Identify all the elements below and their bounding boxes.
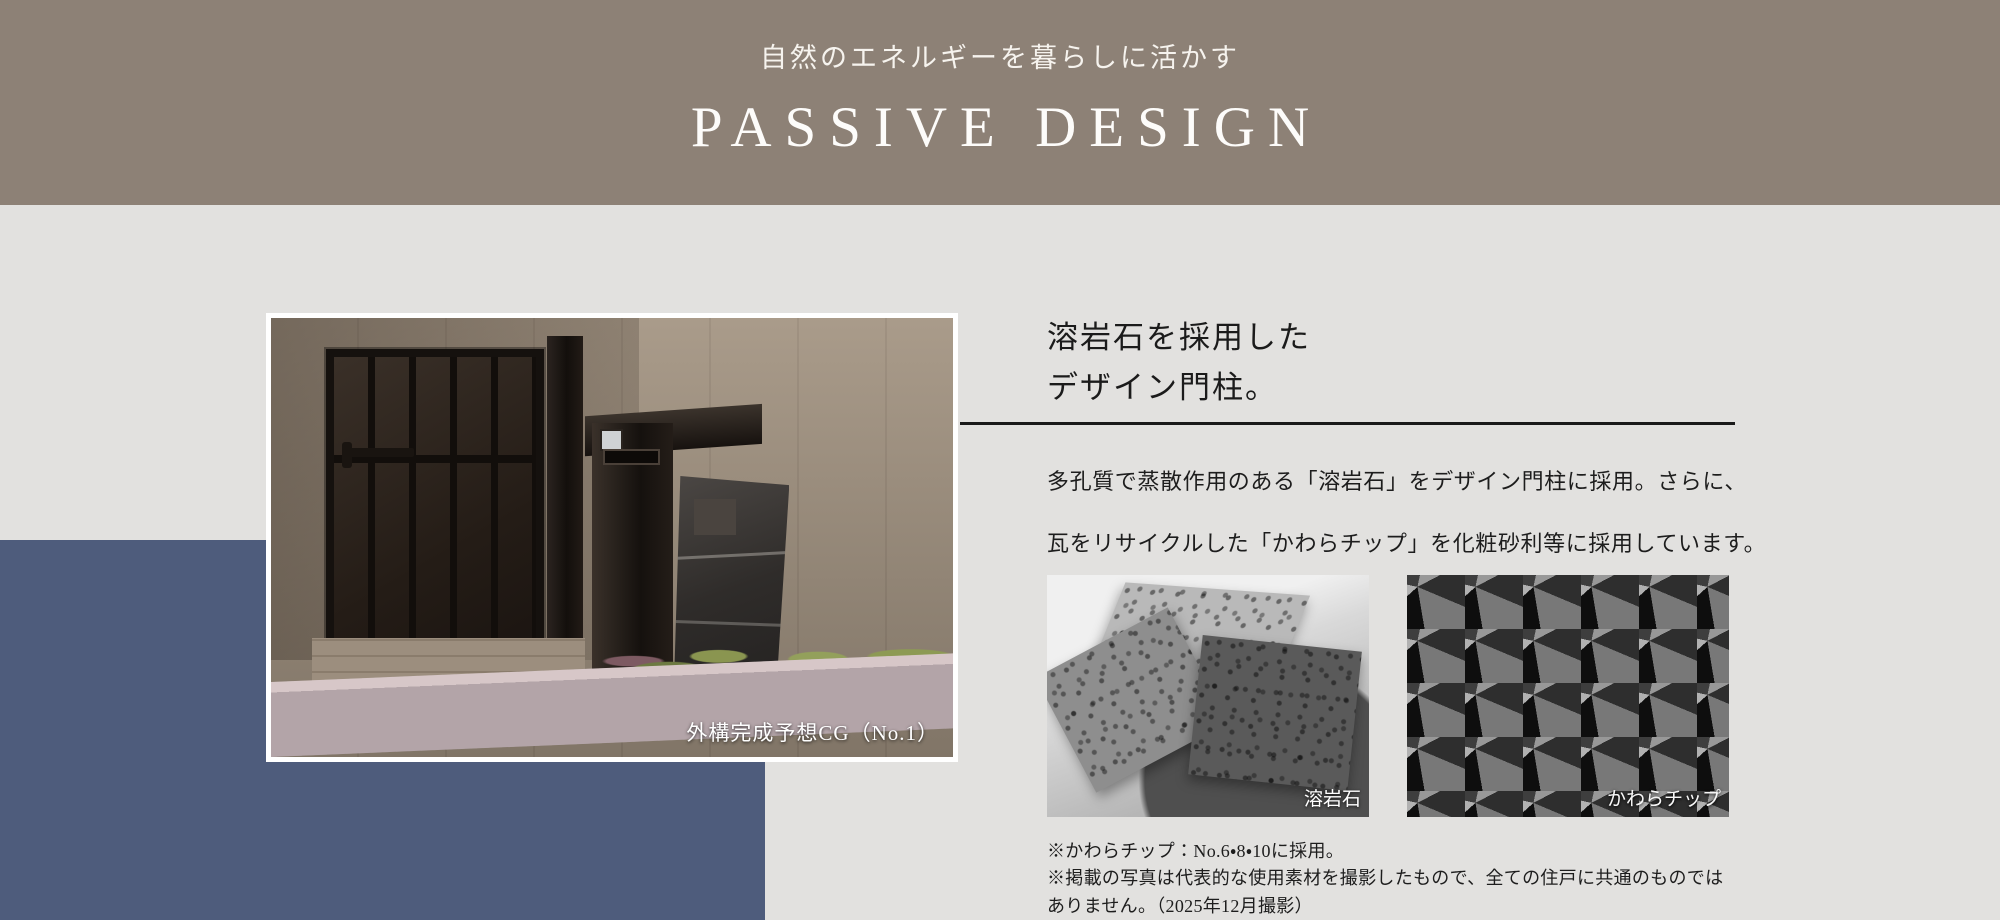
footnote-line-3: ありません。（2025年12月撮影） <box>1047 893 1723 920</box>
material-caption-kawara-chip: かわらチップ <box>1607 784 1721 811</box>
nameplate <box>694 499 736 536</box>
content-heading-line1: 溶岩石を採用した <box>1047 313 1747 363</box>
section-subtitle: 自然のエネルギーを暮らしに活かす <box>760 36 1240 75</box>
section-header-band: 自然のエネルギーを暮らしに活かす PASSIVE DESIGN <box>0 0 2000 205</box>
content-body-line1: 多孔質で蒸散作用のある「溶岩石」をデザイン門柱に採用。さらに、 <box>1047 460 1767 504</box>
gate-handle-grip <box>342 442 352 468</box>
main-photo-caption: 外構完成予想CG（No.1） <box>686 717 939 747</box>
footnotes: ※かわらチップ：No.6・8・10に採用。 ※掲載の写真は代表的な使用素材を撮影… <box>1047 838 1723 920</box>
material-photo-lava-stone: 溶岩石 <box>1047 575 1369 817</box>
heading-divider <box>960 422 1735 425</box>
stone-joint-1 <box>673 551 789 560</box>
content-heading-line2: デザイン門柱。 <box>1047 363 1747 413</box>
entrance-gate-cg-image: 外構完成予想CG（No.1） <box>271 318 953 757</box>
section-title: PASSIVE DESIGN <box>678 95 1322 160</box>
gate-bars <box>334 357 536 683</box>
material-photo-row: 溶岩石 かわらチップ <box>1047 575 1729 817</box>
content-heading-block: 溶岩石を採用した デザイン門柱。 <box>1047 313 1747 413</box>
main-photo-frame: 外構完成予想CG（No.1） <box>266 313 958 762</box>
footnote-line-1: ※かわらチップ：No.6・8・10に採用。 <box>1047 838 1723 865</box>
footnote-line-2: ※掲載の写真は代表的な使用素材を撮影したもので、全ての住戸に共通のものでは <box>1047 865 1723 892</box>
gate-handle <box>346 448 415 457</box>
content-body: 多孔質で蒸散作用のある「溶岩石」をデザイン門柱に採用。さらに、 瓦をリサイクルし… <box>1047 460 1767 584</box>
mail-slot <box>603 449 660 466</box>
lava-slab-dark <box>1188 635 1362 791</box>
page-root: 自然のエネルギーを暮らしに活かす PASSIVE DESIGN <box>0 0 2000 920</box>
content-body-line2: 瓦をリサイクルした「かわらチップ」を化粧砂利等に採用しています。 <box>1047 522 1767 566</box>
material-photo-kawara-chip: かわらチップ <box>1407 575 1729 817</box>
material-caption-lava-stone: 溶岩石 <box>1304 784 1361 811</box>
